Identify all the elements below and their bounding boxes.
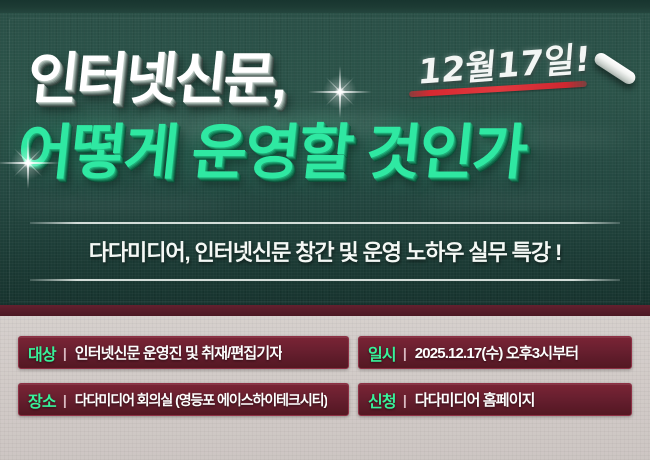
headline-line-2: 어떻게 운영할 것인가 bbox=[13, 104, 530, 191]
info-row-venue: 장소 | 다다미디어 회의실 (영등포 에이스하이테크시티) bbox=[18, 383, 349, 416]
info-separator: | bbox=[63, 392, 67, 408]
promo-banner: 인터넷신문, 어떻게 운영할 것인가 12월17일! 다다미디어, 인터넷신문 … bbox=[0, 0, 650, 460]
info-key-target: 대상 bbox=[28, 341, 56, 365]
headline-line-1: 인터넷신문, bbox=[24, 34, 291, 115]
info-key-registration: 신청 bbox=[368, 388, 396, 412]
info-row-datetime: 일시 | 2025.12.17(수) 오후3시부터 bbox=[358, 336, 632, 369]
info-separator: | bbox=[403, 345, 407, 361]
info-separator: | bbox=[63, 345, 67, 361]
chalk-smudge bbox=[10, 200, 230, 212]
info-row-target: 대상 | 인터넷신문 운영진 및 취재/편집기자 bbox=[18, 336, 349, 369]
subtitle-text: 다다미디어, 인터넷신문 창간 및 운영 노하우 실무 특강 ! bbox=[30, 224, 620, 279]
info-value-venue: 다다미디어 회의실 (영등포 에이스하이테크시티) bbox=[75, 390, 327, 410]
info-value-datetime: 2025.12.17(수) 오후3시부터 bbox=[415, 342, 578, 363]
subtitle-group: 다다미디어, 인터넷신문 창간 및 운영 노하우 실무 특강 ! bbox=[30, 222, 620, 281]
info-grid: 대상 | 인터넷신문 운영진 및 취재/편집기자 일시 | 2025.12.17… bbox=[0, 316, 650, 416]
chalkboard-top-frame bbox=[0, 0, 650, 13]
info-separator: | bbox=[403, 392, 407, 408]
info-panel: 대상 | 인터넷신문 운영진 및 취재/편집기자 일시 | 2025.12.17… bbox=[0, 316, 650, 460]
info-key-venue: 장소 bbox=[28, 388, 56, 412]
subtitle-rule-bottom bbox=[30, 279, 620, 281]
info-key-datetime: 일시 bbox=[368, 341, 396, 365]
info-row-registration[interactable]: 신청 | 다다미디어 홈페이지 bbox=[358, 383, 632, 416]
handwritten-date-group: 12월17일! bbox=[418, 38, 591, 87]
section-divider bbox=[0, 305, 650, 316]
chalk-smudge bbox=[420, 196, 630, 208]
info-value-target: 인터넷신문 운영진 및 취재/편집기자 bbox=[75, 342, 283, 363]
info-value-registration: 다다미디어 홈페이지 bbox=[415, 389, 535, 410]
